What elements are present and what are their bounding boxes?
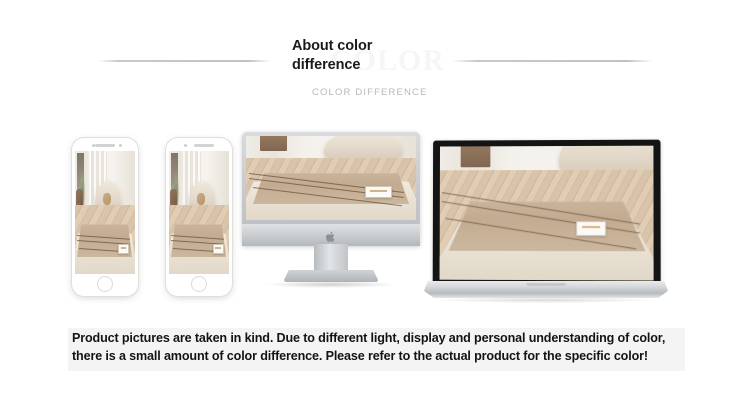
smartphone-left-screen (75, 151, 135, 274)
page-title: About color difference (292, 37, 442, 74)
rug-scene-wide (75, 151, 135, 274)
laptop (424, 132, 668, 304)
desktop-monitor-screen (246, 136, 416, 220)
monitor-stand-neck (314, 244, 348, 272)
laptop-shadow (439, 297, 653, 303)
earpiece-speaker-icon (194, 144, 214, 147)
smartphone-right (166, 138, 232, 296)
sensor-icon (119, 144, 122, 147)
front-camera-icon (184, 144, 187, 147)
laptop-hinge-notch (526, 283, 566, 286)
home-button[interactable] (191, 276, 207, 292)
disclaimer-panel: Product pictures are taken in kind. Due … (68, 328, 685, 371)
header-divider-right (452, 60, 652, 62)
page-subtitle: COLOR DIFFERENCE (312, 87, 428, 98)
earpiece-speaker-icon (95, 144, 115, 147)
desktop-monitor (242, 132, 420, 304)
monitor-shadow (266, 281, 396, 288)
device-showcase (0, 120, 750, 310)
home-button[interactable] (97, 276, 113, 292)
laptop-screen (440, 146, 654, 281)
smartphone-left (72, 138, 138, 296)
smartphone-right-screen (169, 151, 229, 274)
laptop-lid (433, 140, 661, 287)
color-difference-banner: COLOR About color difference COLOR DIFFE… (0, 0, 750, 413)
rug-scene-closeup (440, 146, 654, 281)
rug-scene-wide (169, 151, 229, 274)
apple-logo-icon (326, 230, 337, 242)
disclaimer-text: Product pictures are taken in kind. Due … (72, 330, 681, 365)
rug-scene-closeup (246, 136, 416, 220)
header-divider-left (98, 60, 270, 62)
phone-top-bar (72, 138, 138, 151)
phone-top-bar (166, 138, 232, 151)
